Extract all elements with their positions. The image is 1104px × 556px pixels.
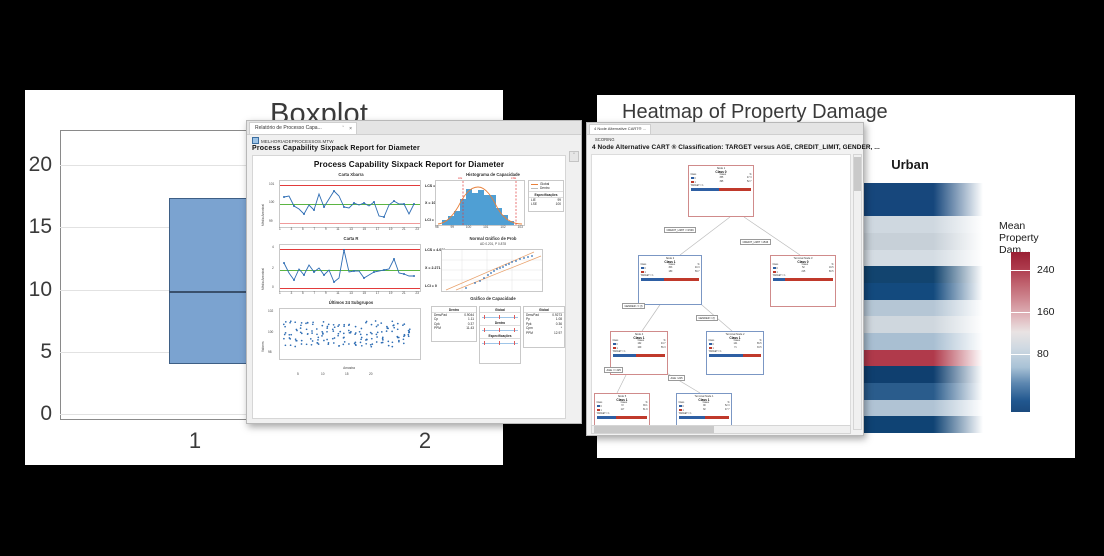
- rchart-title: Carta R: [291, 236, 411, 241]
- subgroups-x-tick: 20: [369, 372, 373, 376]
- xbar-y-tick: 101: [269, 182, 274, 186]
- cart-node-bar-segment: [616, 416, 648, 419]
- subgroups-x-tick: 15: [345, 372, 349, 376]
- cart-node-col-header: %: [749, 174, 751, 177]
- capability-global-table: Global DesvPad0.9273Pp1.08Ppk0.36Cpm*PPM…: [523, 306, 565, 348]
- cart-split-label[interactable]: GENDER <= (f): [622, 303, 645, 309]
- xbar-series: [280, 181, 420, 227]
- rchart-center-label: X = 2.271: [425, 266, 441, 270]
- heatmap-legend-tickline: [1011, 312, 1030, 313]
- cart-node-bar-segment: [705, 416, 729, 419]
- minitab-collapse-button[interactable]: ˇ: [569, 151, 579, 162]
- capability-global-value: 12.97: [554, 331, 562, 335]
- cart-node-bar: [641, 278, 700, 281]
- xbar-chart-title: Carta Xbarra: [291, 172, 411, 177]
- cart-split-label[interactable]: CREDIT_LIMIT >1546: [740, 239, 771, 245]
- legend-within-swatch: [531, 188, 538, 189]
- cart-node-bar-segment: [691, 188, 720, 191]
- xbar-x-tick: 3: [290, 227, 292, 232]
- cart-node-bar: [691, 188, 752, 191]
- cart-node-cases-cell: 52: [802, 267, 805, 270]
- histogram-legend: Global Dentro Especificações LIE99LSE100: [528, 180, 564, 212]
- cart-tab-label: 4 Node Alternative CART® ...: [594, 126, 646, 131]
- heatmap-legend-tick: 240: [1037, 264, 1055, 276]
- cart-node-cases-cell: 141: [733, 343, 737, 346]
- cart-node-bar-segment: [679, 416, 706, 419]
- cart-horizontal-scrollbar[interactable]: [591, 425, 851, 434]
- cart-node-col-header: Cases: [669, 264, 676, 267]
- cart-node[interactable]: Terminal Node 3Class 0ClassCases%05219.5…: [770, 255, 836, 307]
- cart-node-col-header: %: [831, 264, 833, 267]
- cart-node-cases-cell: 117: [621, 409, 625, 412]
- minitab-window[interactable]: Relatório de Processo Capa... ˇ × MELHOR…: [246, 120, 582, 424]
- rchart-x-tick: 5: [302, 291, 304, 296]
- boxplot-y-tick: 10: [29, 278, 52, 302]
- cart-node-pct-cell: 38.1: [643, 405, 647, 408]
- xbar-x-tick: 5: [302, 227, 304, 232]
- cart-node-bar-segment: [785, 278, 834, 281]
- heatmap-legend-tick: 80: [1037, 348, 1049, 360]
- cart-node-bar: [773, 278, 834, 281]
- boxplot-y-tick: 5: [40, 340, 52, 364]
- subgroups-y-tick: 100: [268, 330, 273, 334]
- subgroups-scatter: [280, 309, 420, 359]
- cart-node-pct-cell: 33.5: [757, 347, 761, 350]
- capability-within-name: PPM: [434, 326, 441, 330]
- cart-node-cases-cell: 215: [801, 271, 805, 274]
- cart-node-table: ClassCases%05219.5121580.5: [773, 264, 834, 275]
- cart-node-cases-cell: 82: [703, 409, 706, 412]
- cart-split-label[interactable]: CREDIT_LIMIT <=1546: [664, 227, 696, 233]
- histogram-title: Histograma de Capacidade: [433, 172, 553, 177]
- normplot-plot-area: [441, 249, 543, 292]
- xbar-plot-area: [279, 180, 421, 228]
- subgroups-title: Últimos 24 Subgrupos: [283, 300, 419, 305]
- rchart-plot-area: [279, 244, 421, 292]
- cart-node-bar: [679, 416, 730, 419]
- cart-node-pct-cell: 61.9: [643, 409, 647, 412]
- screenshot-stage: Boxplot 20 15 10 5 0 1 2 Heatmap of Prop…: [0, 0, 1104, 556]
- subgroups-plot-area: [279, 308, 421, 360]
- histogram-x-tick-row: 9899100101102103: [435, 225, 523, 230]
- cart-tree-canvas[interactable]: Node 1Class 0ClassCases%035547.3139552.7…: [591, 154, 851, 430]
- histogram-x-tick: 103: [518, 225, 523, 230]
- cart-node-pct-cell: 52.3: [725, 405, 729, 408]
- cart-scoring-label: SCORING: [595, 137, 615, 142]
- rchart-x-tick: 17: [376, 291, 380, 296]
- rchart-x-tick: 3: [290, 291, 292, 296]
- histogram-spec-low-label: LIE: [458, 176, 462, 180]
- close-icon[interactable]: ×: [349, 126, 352, 132]
- cart-node-cases-cell: 72: [621, 405, 624, 408]
- heatmap-legend-title-line2: Property Dam...: [999, 232, 1069, 256]
- cart-node-bar-segment: [743, 354, 761, 357]
- cart-node[interactable]: Node 1Class 0ClassCases%035547.3139552.7…: [688, 165, 754, 217]
- heatmap-title: Heatmap of Property Damage: [622, 101, 888, 124]
- minitab-tab[interactable]: Relatório de Processo Capa... ˇ ×: [249, 122, 357, 134]
- normplot-points: [442, 250, 542, 291]
- capability-global-name: PPM: [526, 331, 533, 335]
- rchart-x-tick: 15: [362, 291, 366, 296]
- cart-node-table: ClassCases%016243.7110956.3: [613, 340, 666, 351]
- rchart-x-tick: 7: [313, 291, 315, 296]
- capability-title: Gráfico de Capacidade: [433, 296, 553, 301]
- cart-node-bar-caption: TARGET = 1: [691, 185, 752, 187]
- cart-tab-bar: 4 Node Alternative CART® ...: [587, 123, 863, 135]
- boxplot-y-tick: 15: [29, 215, 52, 239]
- histogram-plot-area: [435, 180, 525, 226]
- cart-node-table: ClassCases%035547.3139552.7: [691, 174, 752, 185]
- xbar-y-tick: 100: [269, 200, 274, 204]
- capability-within-row: PPM11.43: [432, 326, 476, 330]
- cart-node-table: ClassCases%07238.1111761.9: [597, 402, 648, 413]
- capability-within-rows: DesvPad0.9044Cp1.11Cpk0.37PPM11.43: [432, 313, 476, 331]
- subgroups-x-tick-row: 5101520: [279, 372, 419, 377]
- cart-node-cases-cell: 90: [703, 405, 706, 408]
- cart-node[interactable]: Terminal Node 2Class 1ClassCases%014166.…: [706, 331, 764, 375]
- cart-node-col-header: %: [645, 402, 647, 405]
- histogram-x-tick: 102: [500, 225, 505, 230]
- rchart-x-tick: 9: [325, 291, 327, 296]
- report-title: Process Capability Sixpack Report for Di…: [253, 160, 565, 169]
- cart-node-pct-cell: 40.3: [695, 267, 699, 270]
- heatmap-legend-tickline: [1011, 270, 1030, 271]
- legend-spec-row: LSE100: [529, 202, 563, 206]
- rchart-y-tick: 4: [272, 245, 274, 249]
- cart-node-bar-segment: [773, 278, 785, 281]
- xbar-y-tick: 99: [269, 219, 273, 223]
- minitab-worksheet-label: MELHORIADEPROCESSOS.MTW: [261, 139, 334, 144]
- subgroups-x-tick: 10: [321, 372, 325, 376]
- minitab-worksheet-name-row: MELHORIADEPROCESSOS.MTW: [252, 137, 334, 144]
- boxplot-x-tick-2: 2: [375, 428, 475, 454]
- cart-node-pct-cell: 19.5: [829, 267, 833, 270]
- histogram-bars: [436, 181, 524, 225]
- capability-within-value: 11.43: [466, 326, 474, 330]
- heatmap-colorbar: [1011, 252, 1030, 412]
- minitab-tab-label: Relatório de Processo Capa...: [255, 125, 322, 131]
- minitab-tab-bar: Relatório de Processo Capa... ˇ ×: [247, 121, 581, 135]
- cart-node-bar-segment: [719, 188, 751, 191]
- cart-node-col-header: Cases: [621, 402, 628, 405]
- subgroups-x-axis-label: Amostra: [279, 366, 419, 370]
- cart-node-table: ClassCases%014166.517133.5: [709, 340, 762, 351]
- cart-node-pct-cell: 47.3: [747, 177, 751, 180]
- cart-node-col-header: %: [663, 340, 665, 343]
- boxplot-x-tick-1: 1: [145, 428, 245, 454]
- minitab-report-canvas: Process Capability Sixpack Report for Di…: [252, 155, 566, 419]
- cart-node-cases-cell: 71: [734, 347, 737, 350]
- rchart-x-tick: 1: [279, 291, 281, 296]
- heatmap-legend: Mean Property Dam... 240 160 80: [999, 220, 1069, 256]
- histogram-spec-high-label: LSE: [511, 176, 516, 180]
- cart-node-col-header: Cases: [734, 340, 741, 343]
- legend-spec-name: LSE: [531, 202, 537, 206]
- cart-node-bar-caption: TARGET = 1: [679, 413, 730, 415]
- legend-spec-value: 100: [556, 202, 561, 206]
- rchart-y-axis-label: Média Amostral: [261, 246, 265, 290]
- histogram-x-tick: 99: [450, 225, 454, 230]
- xbar-x-tick: 19: [389, 227, 393, 232]
- cart-node-col-header: Cases: [802, 264, 809, 267]
- heatmap-legend-tickline: [1011, 354, 1030, 355]
- legend-spec-header: Especificações: [529, 191, 563, 198]
- capability-bars-panel: Global Dentro Especificações: [479, 306, 521, 364]
- cart-node-bar-segment: [709, 354, 744, 357]
- xbar-x-tick: 17: [376, 227, 380, 232]
- cart-node-col-header: %: [727, 402, 729, 405]
- rchart-x-tick: 21: [402, 291, 406, 296]
- cart-node[interactable]: Node 2Class 1ClassCases%030340.3118059.7…: [638, 255, 702, 305]
- cart-node-bar-segment: [613, 354, 636, 357]
- cart-node-pct-cell: 47.7: [725, 409, 729, 412]
- rchart-x-tick: 19: [389, 291, 393, 296]
- rchart-x-tick: 23: [415, 291, 419, 296]
- cart-node-bar-segment: [641, 278, 665, 281]
- cart-window[interactable]: 4 Node Alternative CART® ... SCORING 4 N…: [586, 122, 864, 436]
- cart-tab[interactable]: 4 Node Alternative CART® ...: [589, 124, 651, 134]
- xbar-x-tick: 7: [313, 227, 315, 232]
- cart-split-label[interactable]: AGE >225: [668, 375, 685, 381]
- cart-node-col-header: %: [759, 340, 761, 343]
- capability-global-row: PPM12.97: [524, 331, 564, 335]
- xbar-x-tick: 1: [279, 227, 281, 232]
- cart-node-col-header: %: [697, 264, 699, 267]
- cart-node-pct-cell: 56.3: [661, 347, 665, 350]
- xbar-x-tick: 23: [415, 227, 419, 232]
- heatmap-legend-title: Mean Property Dam...: [999, 220, 1069, 256]
- capability-within-table: Dentro DesvPad0.9044Cp1.11Cpk0.37PPM11.4…: [431, 306, 477, 342]
- normplot-title: Normal Gráfico de Prob: [433, 236, 553, 241]
- cart-node-cases-cell: 303: [668, 267, 672, 270]
- normplot-subtitle: AD 0.201, P 0.878: [433, 242, 553, 246]
- cart-report-title: 4 Node Alternative CART ® Classification…: [592, 144, 880, 151]
- rchart-x-tick: 11: [336, 291, 339, 296]
- capability-bar-global: [480, 313, 520, 320]
- cart-node-bar-caption: TARGET = 1: [597, 413, 648, 415]
- chevron-down-icon[interactable]: ˇ: [342, 126, 344, 132]
- cart-node-pct-cell: 43.7: [661, 343, 665, 346]
- cart-node-bar-segment: [636, 354, 666, 357]
- cart-node-cases-cell: 395: [719, 181, 723, 184]
- legend-within-label: Dentro: [540, 186, 550, 190]
- rchart-lcl-label: LCI = 0: [425, 284, 437, 288]
- heatmap-legend-title-line1: Mean: [999, 220, 1069, 232]
- cart-node-cases-cell: 162: [637, 343, 641, 346]
- cart-vertical-scrollbar[interactable]: [853, 154, 862, 430]
- subgroups-y-tick: 102: [268, 309, 273, 313]
- capability-bar-spec: [480, 339, 520, 346]
- capability-bar-within: [480, 326, 520, 333]
- xbar-x-tick: 9: [325, 227, 327, 232]
- rchart-y-tick: 2: [272, 266, 274, 270]
- boxplot-y-tick: 20: [29, 153, 52, 177]
- cart-split-label[interactable]: GENDER = (f): [696, 315, 718, 321]
- cart-node-table: ClassCases%030340.3118059.7: [641, 264, 700, 275]
- cart-node-bar-caption: TARGET = 1: [773, 275, 834, 277]
- cart-node-bar-caption: TARGET = 1: [641, 275, 700, 277]
- histogram-x-tick: 101: [483, 225, 488, 230]
- cart-node-cases-cell: 109: [637, 347, 641, 350]
- cart-node-col-header: Cases: [720, 174, 727, 177]
- rchart-x-tick: 13: [349, 291, 353, 296]
- cart-node-pct-cell: 59.7: [695, 271, 699, 274]
- subgroups-x-tick: 5: [297, 372, 299, 376]
- heatmap-column-header: Urban: [855, 157, 965, 172]
- boxplot-y-tick: 0: [40, 402, 52, 426]
- cart-node-pct-cell: 66.5: [757, 343, 761, 346]
- xbar-x-tick: 15: [362, 227, 366, 232]
- xbar-x-tick-row: 1357911131517192123: [279, 227, 419, 232]
- cart-node-bar: [709, 354, 762, 357]
- worksheet-icon: [252, 137, 259, 144]
- cart-node-bar: [597, 416, 648, 419]
- subgroups-y-axis-label: Valores: [261, 312, 265, 352]
- rchart-x-tick-row: 1357911131517192123: [279, 291, 419, 296]
- cart-node-bar-caption: TARGET = 1: [613, 351, 666, 353]
- histogram-x-tick: 100: [466, 225, 471, 230]
- legend-spec-rows: LIE99LSE100: [529, 198, 563, 207]
- cart-node-bar-segment: [597, 416, 616, 419]
- xbar-x-tick: 21: [402, 227, 406, 232]
- cart-node-cases-cell: 180: [668, 271, 672, 274]
- cart-node-bar-segment: [664, 278, 699, 281]
- xbar-y-axis-label: Média Amostral: [261, 182, 265, 226]
- cart-node-cases-cell: 355: [719, 177, 723, 180]
- cart-node-col-header: Cases: [638, 340, 645, 343]
- minitab-command-title: Process Capability Sixpack Report for Di…: [252, 145, 420, 152]
- rchart-y-tick: 0: [272, 285, 274, 289]
- cart-node-bar-caption: TARGET = 1: [709, 351, 762, 353]
- rchart-series: [280, 245, 420, 291]
- heatmap-legend-tick: 160: [1037, 306, 1055, 318]
- subgroups-y-tick: 98: [268, 350, 272, 354]
- cart-node-pct-cell: 80.5: [829, 271, 833, 274]
- xbar-x-tick: 13: [349, 227, 353, 232]
- xbar-x-tick: 11: [336, 227, 339, 232]
- cart-node-pct-cell: 52.7: [747, 181, 751, 184]
- cart-node-bar: [613, 354, 666, 357]
- cart-split-label[interactable]: AGE <= 225: [604, 367, 623, 373]
- cart-node-col-header: Cases: [703, 402, 710, 405]
- histogram-x-tick: 98: [435, 225, 439, 230]
- capability-global-rows: DesvPad0.9273Pp1.08Ppk0.36Cpm*PPM12.97: [524, 313, 564, 335]
- legend-global-swatch: [531, 184, 538, 185]
- cart-node-table: ClassCases%09052.318247.7: [679, 402, 730, 413]
